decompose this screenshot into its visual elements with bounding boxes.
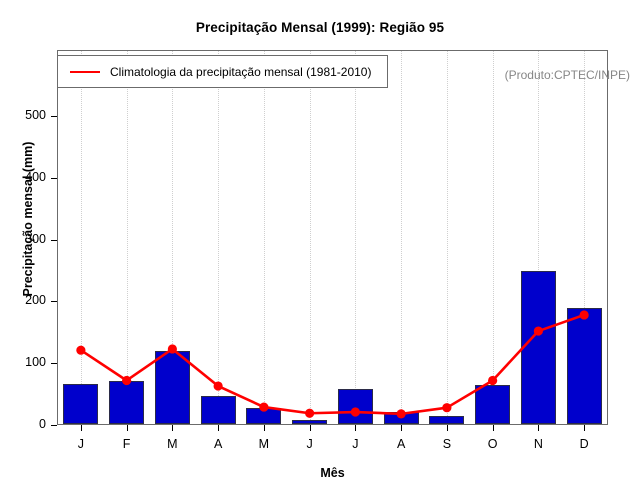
x-tick-mark [264, 425, 265, 431]
legend-line-swatch [70, 71, 100, 73]
climatology-marker-n-10 [534, 326, 543, 335]
x-tick-mark [447, 425, 448, 431]
x-tick-mark [218, 425, 219, 431]
x-tick-label-7: A [386, 437, 416, 451]
chart-figure: Precipitação Mensal (1999): Região 95 Pr… [0, 0, 640, 500]
x-tick-mark [538, 425, 539, 431]
x-tick-label-11: D [569, 437, 599, 451]
x-tick-label-10: N [523, 437, 553, 451]
climatology-marker-j-0 [76, 346, 85, 355]
x-tick-mark [493, 425, 494, 431]
climatology-marker-m-2 [168, 344, 177, 353]
legend-box: Climatologia da precipitação mensal (198… [57, 55, 388, 88]
x-tick-mark [584, 425, 585, 431]
x-tick-label-6: J [340, 437, 370, 451]
x-tick-label-4: M [249, 437, 279, 451]
x-tick-label-5: J [295, 437, 325, 451]
x-tick-label-9: O [478, 437, 508, 451]
climatology-marker-o-9 [488, 376, 497, 385]
x-tick-label-3: A [203, 437, 233, 451]
climatology-marker-j-5 [305, 409, 314, 418]
x-tick-mark [127, 425, 128, 431]
climatology-line [81, 315, 584, 414]
climatology-marker-a-3 [214, 381, 223, 390]
x-tick-label-0: J [66, 437, 96, 451]
chart-title: Precipitação Mensal (1999): Região 95 [0, 20, 640, 35]
climatology-marker-s-8 [442, 403, 451, 412]
climatology-marker-a-7 [397, 409, 406, 418]
climatology-line-series [58, 51, 608, 425]
plot-area [57, 50, 608, 425]
y-tick-label: 400 [25, 170, 46, 184]
x-tick-mark [401, 425, 402, 431]
climatology-marker-m-4 [259, 402, 268, 411]
x-tick-mark [81, 425, 82, 431]
legend-label: Climatologia da precipitação mensal (198… [110, 65, 371, 79]
y-tick-label: 100 [25, 355, 46, 369]
x-axis-title: Mês [57, 466, 608, 480]
y-tick-label: 0 [39, 417, 46, 431]
y-tick-label: 200 [25, 293, 46, 307]
climatology-marker-j-6 [351, 407, 360, 416]
x-tick-mark [355, 425, 356, 431]
y-tick-label: 300 [25, 232, 46, 246]
x-tick-mark [310, 425, 311, 431]
climatology-marker-d-11 [580, 310, 589, 319]
source-annotation: (Produto:CPTEC/INPE) [505, 68, 630, 82]
y-tick-label: 500 [25, 108, 46, 122]
y-axis-title: Precipitação mensal (mm) [21, 89, 35, 349]
x-tick-label-8: S [432, 437, 462, 451]
x-tick-mark [172, 425, 173, 431]
climatology-markers [76, 310, 588, 418]
x-tick-label-1: F [112, 437, 142, 451]
climatology-marker-f-1 [122, 376, 131, 385]
y-tick-mark [51, 425, 57, 426]
x-tick-label-2: M [157, 437, 187, 451]
